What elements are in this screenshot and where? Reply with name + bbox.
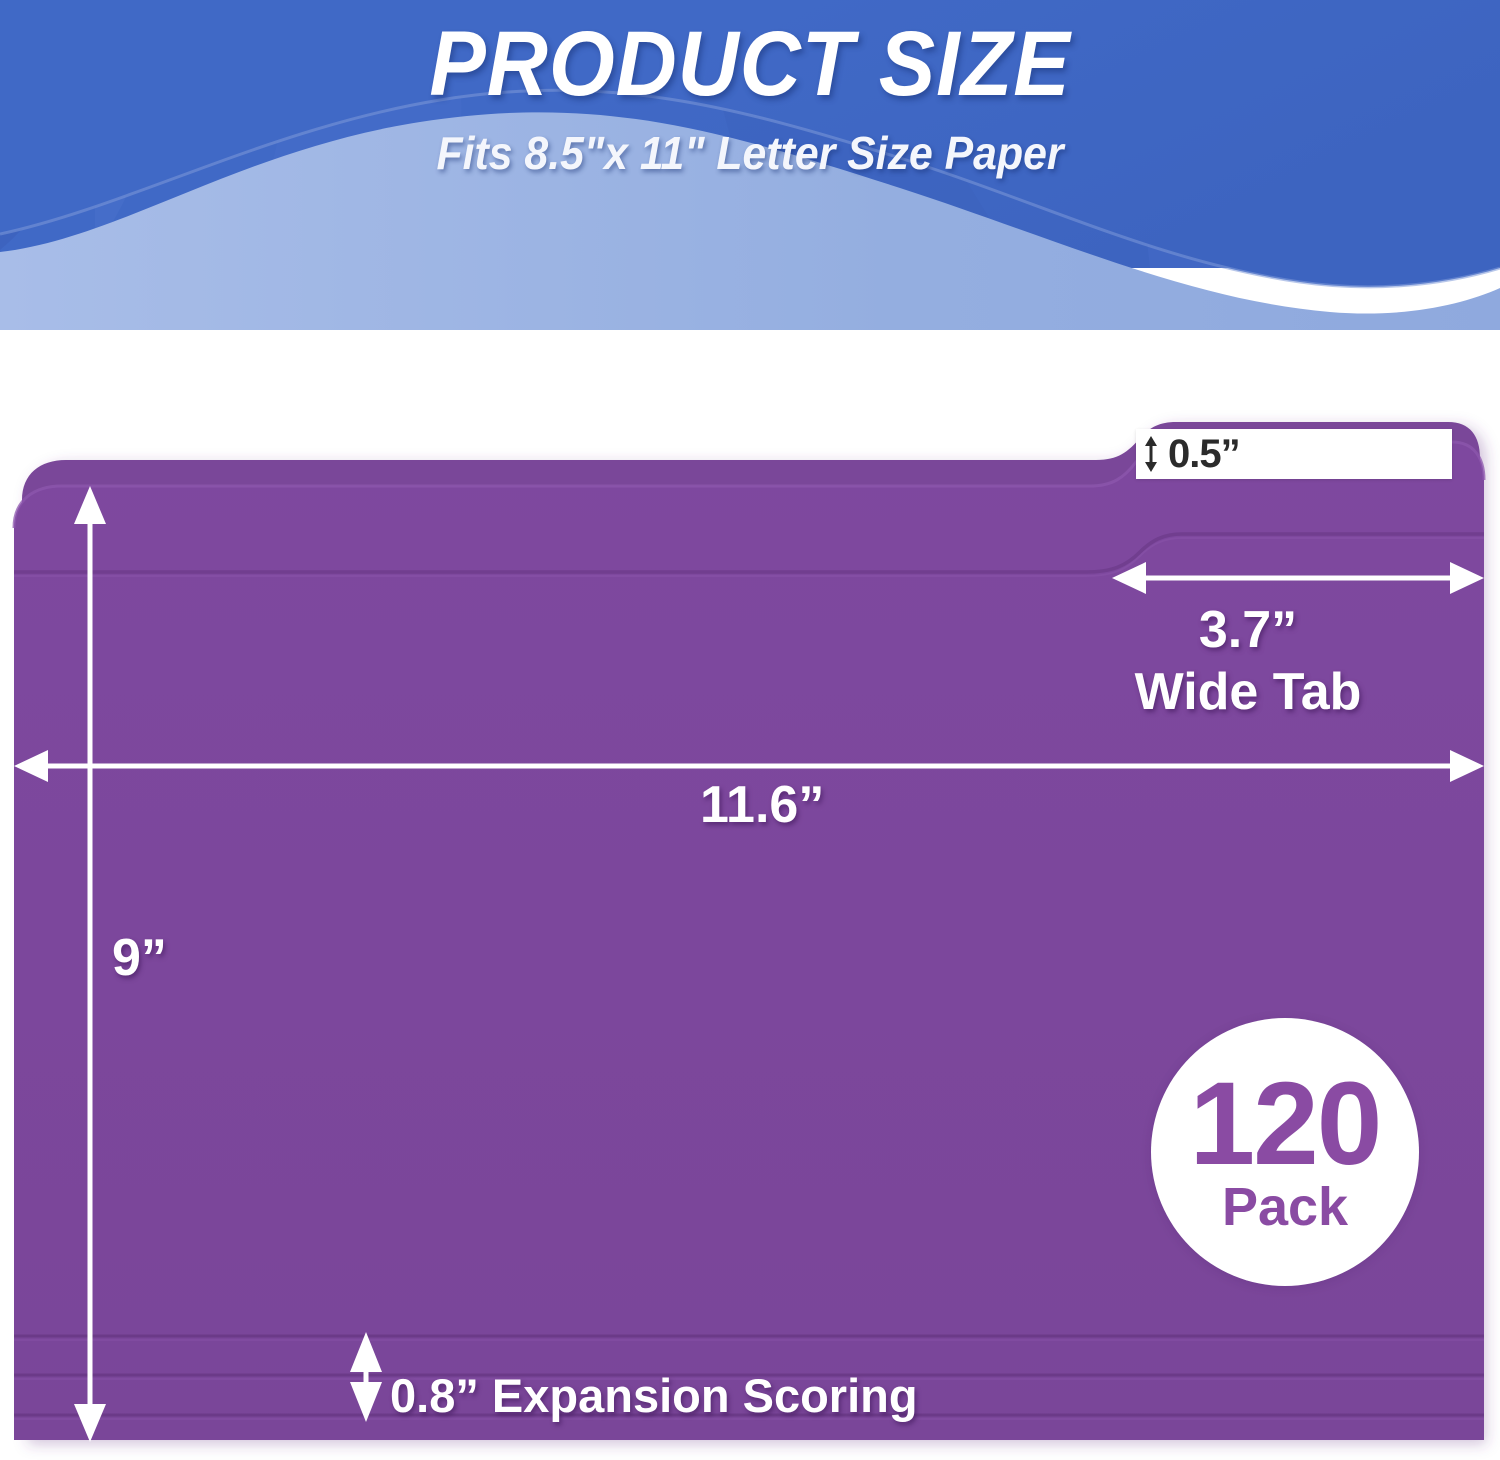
pack-count: 120 xyxy=(1190,1070,1381,1179)
tab-width-caption: Wide Tab xyxy=(1135,662,1362,722)
vertical-double-arrow-icon xyxy=(1136,434,1166,474)
expansion-scoring-label: 0.8” Expansion Scoring xyxy=(390,1368,918,1423)
folder-front-panel xyxy=(14,442,1484,1440)
height-dimension-label: 9” xyxy=(112,928,167,988)
tab-width-dimension-label: 3.7” xyxy=(1199,600,1297,660)
tab-height-callout: 0.5” xyxy=(1136,429,1452,479)
page-title: PRODUCT SIZE xyxy=(60,0,1440,110)
header-text-block: PRODUCT SIZE Fits 8.5"x 11" Letter Size … xyxy=(0,0,1500,180)
width-dimension-label: 11.6” xyxy=(700,775,824,835)
page-subtitle: Fits 8.5"x 11" Letter Size Paper xyxy=(53,126,1448,180)
tab-height-label: 0.5” xyxy=(1168,434,1240,474)
pack-quantity-badge: 120 Pack xyxy=(1151,1018,1419,1286)
pack-unit-label: Pack xyxy=(1222,1180,1348,1234)
